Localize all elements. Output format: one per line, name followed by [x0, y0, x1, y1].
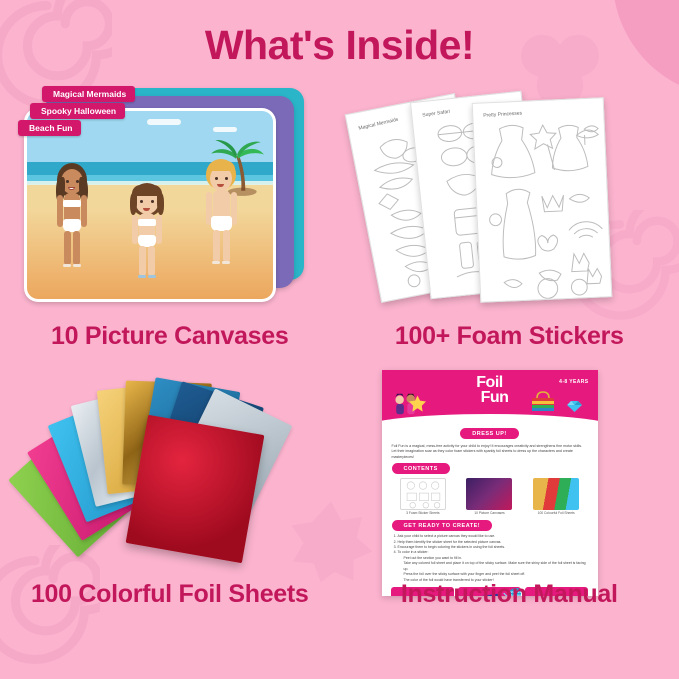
picture-canvas-thumb: [466, 478, 512, 510]
caption-foil-sheets: 100 Colorful Foil Sheets: [31, 580, 309, 609]
contents-badge: CONTENTS: [392, 463, 450, 474]
product-contents-grid: Magical Mermaids Spooky Halloween Beach …: [0, 0, 679, 679]
character-girl-bob: [125, 183, 169, 289]
foil-sheets-caption-wrap: 100 Colorful Foil Sheets: [0, 580, 340, 635]
foil-sheets-illustration: [0, 380, 340, 580]
canvas-tab-magical-mermaids[interactable]: Magical Mermaids: [42, 86, 135, 102]
manual-intro-text: Foil Fun is a magical, mess-free activit…: [382, 439, 598, 463]
cloud-icon: [213, 127, 237, 132]
age-badge: 4-8 YEARS: [559, 379, 588, 385]
manual-page: Foil Fun 4-8 YEARS DRESS UP!: [382, 370, 598, 596]
beach-scene: [27, 111, 273, 299]
cloud-icon: [147, 119, 181, 125]
instruction-manual-caption-wrap: Instruction Manual: [340, 580, 679, 635]
foil-sheet-fan: [24, 380, 314, 580]
characters-icon: [392, 392, 426, 416]
foil-sheets-thumb: [533, 478, 579, 510]
contents-item: 100 Colourful Foil Sheets: [530, 478, 582, 516]
foam-sheet-thumb: [400, 478, 446, 510]
manual-header: Foil Fun 4-8 YEARS: [382, 370, 598, 426]
steps-badge: GET READY TO CREATE!: [392, 520, 493, 531]
manual-contents-list: 3 Foam Sticker Sheets 10 Picture Canvase…: [382, 474, 598, 516]
logo-line-2: Fun: [481, 391, 509, 406]
canvas-stack: Magical Mermaids Spooky Halloween Beach …: [18, 86, 308, 306]
contents-item-label: 10 Picture Canvases: [463, 512, 515, 516]
contents-item: 3 Foam Sticker Sheets: [397, 478, 449, 516]
caption-picture-canvases: 10 Picture Canvases: [51, 322, 289, 351]
contents-item-label: 3 Foam Sticker Sheets: [397, 512, 449, 516]
handbag-icon: [530, 390, 556, 412]
princess-outlines: [472, 98, 611, 301]
sticker-sheet-stack: Magical Mermaids: [358, 88, 648, 308]
picture-canvases-illustration: Magical Mermaids Spooky Halloween Beach …: [0, 82, 340, 322]
instruction-manual-illustration: Foil Fun 4-8 YEARS DRESS UP!: [340, 380, 679, 580]
character-boy-blonde: [199, 159, 243, 277]
foam-stickers-illustration: Magical Mermaids: [340, 82, 679, 322]
canvas-tab-spooky-halloween[interactable]: Spooky Halloween: [30, 103, 125, 119]
canvas-card-front: [24, 108, 276, 302]
gem-icon: [567, 400, 582, 413]
caption-instruction-manual: Instruction Manual: [401, 580, 618, 609]
manual-substep: Take any colored foil sheet and place it…: [404, 561, 588, 572]
page-title: What's Inside!: [0, 22, 679, 69]
picture-canvases-caption-wrap: 10 Picture Canvases: [0, 322, 340, 380]
manual-steps-list: Ask your child to select a picture canva…: [382, 531, 598, 583]
theme-badge: DRESS UP!: [460, 428, 518, 439]
character-girl-brown-hair: [49, 163, 95, 283]
foam-sheet-outlines-icon: [401, 479, 445, 509]
manual-logo: Foil Fun: [471, 376, 509, 405]
caption-foam-stickers: 100+ Foam Stickers: [395, 322, 624, 351]
foil-sheet-red-top: [126, 415, 265, 564]
contents-item-label: 100 Colourful Foil Sheets: [530, 512, 582, 516]
contents-item: 10 Picture Canvases: [463, 478, 515, 516]
sticker-sheet-pretty-princesses: Pretty Princesses: [471, 97, 612, 303]
canvas-tab-beach-fun[interactable]: Beach Fun: [18, 120, 81, 136]
